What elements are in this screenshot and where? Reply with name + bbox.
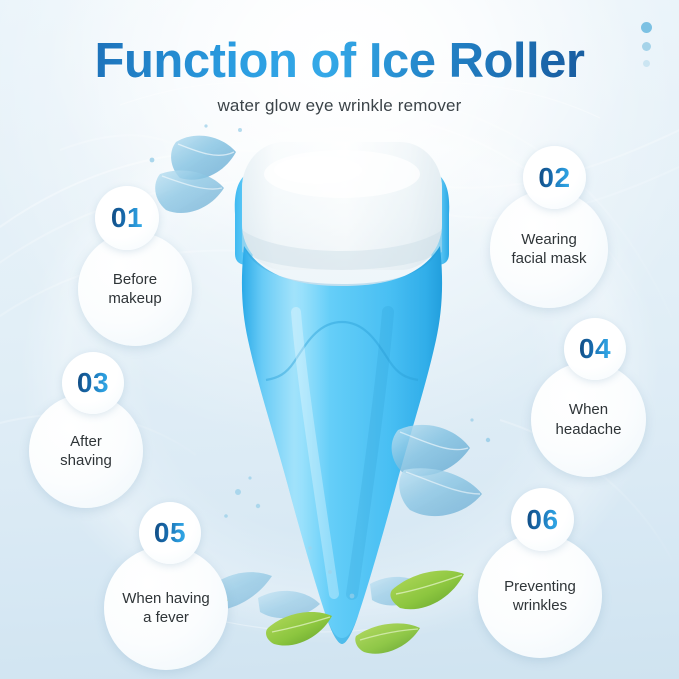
indicator-dot-1 [641,22,652,33]
page-subtitle: water glow eye wrinkle remover [0,96,679,116]
callout-06-line2: wrinkles [505,597,575,614]
callout-04-number: 04 [579,333,611,365]
callout-02-line2: facial mask [503,250,594,267]
callout-06-number-circle[interactable]: 06 [511,488,574,551]
callout-02-number-circle[interactable]: 02 [523,146,586,209]
callout-05-number-circle[interactable]: 05 [139,502,201,564]
callout-02-line1: Wearing [513,231,585,248]
callout-03-number: 03 [77,367,109,399]
roller-body-handle [242,246,442,644]
callout-01-number-circle[interactable]: 01 [95,186,159,250]
roller-head-ice [242,142,442,270]
callout-06-label: Preventing wrinkles [488,577,592,615]
heading-block: Function of Ice Roller water glow eye wr… [0,36,679,116]
callout-04-line1: When [561,401,616,418]
callout-03-line2: shaving [52,452,120,469]
callout-01-label: Before makeup [92,270,177,308]
infographic-canvas: Function of Ice Roller water glow eye wr… [0,0,679,679]
callout-06-text-circle[interactable]: Preventing wrinkles [478,534,602,658]
callout-03-line1: After [62,433,110,450]
callout-02-number: 02 [538,162,570,194]
callout-06-line1: Preventing [496,578,584,595]
callout-05-line1: When having [114,590,218,607]
callout-01-line1: Before [105,271,165,288]
callout-04-line2: headache [548,421,630,438]
callout-04-label: When headache [540,400,638,438]
callout-05-text-circle[interactable]: When having a fever [104,546,228,670]
page-title: Function of Ice Roller [0,36,679,87]
callout-03-label: After shaving [44,432,128,470]
callout-01-number: 01 [111,202,143,234]
callout-04-number-circle[interactable]: 04 [564,318,626,380]
callout-03-number-circle[interactable]: 03 [62,352,124,414]
callout-05-label: When having a fever [106,589,226,627]
ice-roller-product-image [222,134,462,664]
callout-02-label: Wearing facial mask [495,230,602,268]
callout-01-text-circle[interactable]: Before makeup [78,232,192,346]
callout-01-line2: makeup [100,290,169,307]
callout-06-number: 06 [526,504,558,536]
callout-05-number: 05 [154,517,186,549]
callout-05-line2: a fever [135,609,197,626]
